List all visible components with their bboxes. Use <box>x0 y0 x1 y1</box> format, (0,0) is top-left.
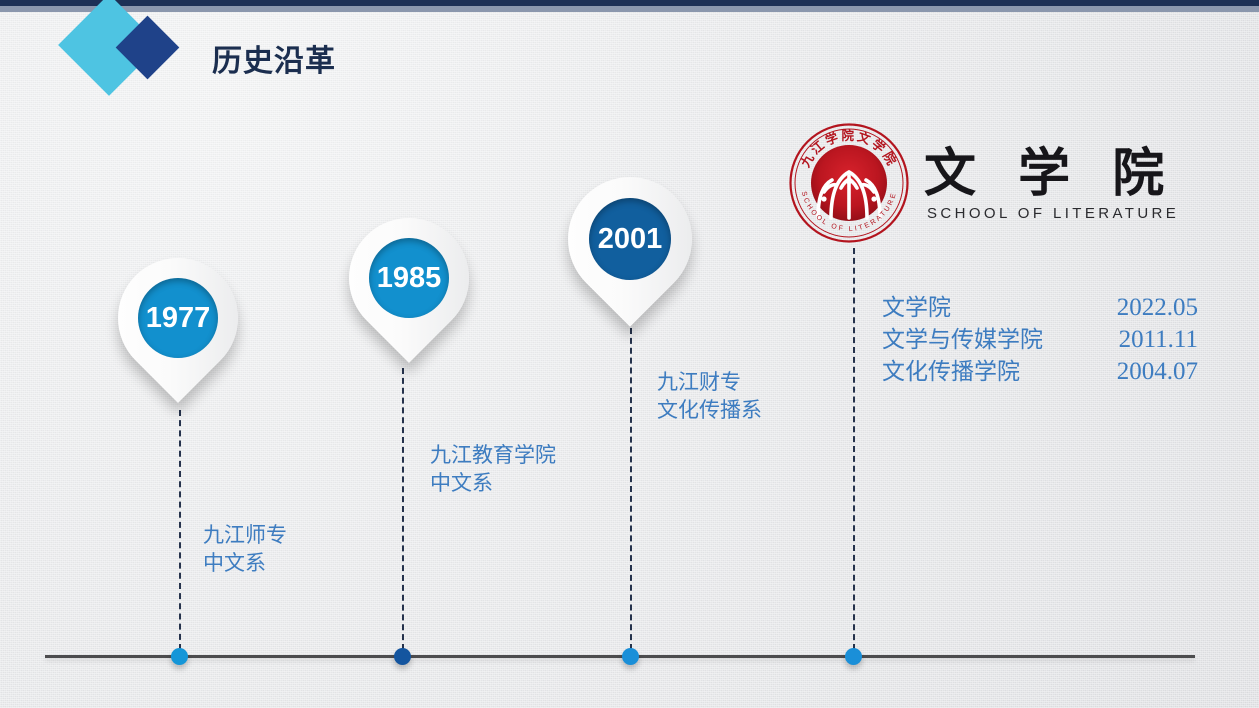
pin-label-2001: 2001 <box>589 198 671 280</box>
timeline-axis <box>45 655 1195 658</box>
logo-wordmark-en: SCHOOL OF LITERATURE <box>927 205 1179 222</box>
school-seal-icon: 九江学院文学院 SCHOOL OF LITERATURE <box>788 122 910 244</box>
pin-body: 2001 <box>542 151 717 326</box>
top-accent-bar-secondary <box>0 6 1259 12</box>
timeline-dot-2001 <box>622 648 639 665</box>
history-date: 2011.11 <box>1074 324 1198 355</box>
connector-line-2004 <box>853 248 855 650</box>
history-row: 文学与传媒学院 2011.11 <box>882 324 1198 356</box>
history-row: 文学院 2022.05 <box>882 292 1198 324</box>
logo-wordmark: 文 学 院 SCHOOL OF LITERATURE <box>924 145 1179 222</box>
caption-1985: 九江教育学院 中文系 <box>430 441 556 497</box>
history-name: 文化传播学院 <box>882 357 1074 388</box>
history-list: 文学院 2022.05 文学与传媒学院 2011.11 文化传播学院 2004.… <box>882 292 1198 388</box>
page-title: 历史沿革 <box>212 36 336 80</box>
caption-2001: 九江财专 文化传播系 <box>657 368 762 424</box>
timeline-pin-1985[interactable]: 1985 <box>349 218 469 338</box>
timeline-dot-1985 <box>394 648 411 665</box>
slide-canvas: 历史沿革 1977 1985 2001 九江师专 中文系 九江教育学院 中文系 … <box>0 0 1259 708</box>
pin-body: 1985 <box>324 193 494 363</box>
history-date: 2004.07 <box>1074 356 1198 387</box>
connector-line-1977 <box>179 410 181 650</box>
history-date: 2022.05 <box>1074 292 1198 323</box>
pin-label-1977: 1977 <box>138 278 218 358</box>
timeline-dot-2004 <box>845 648 862 665</box>
history-name: 文学与传媒学院 <box>882 325 1074 356</box>
timeline-dot-1977 <box>171 648 188 665</box>
connector-line-2001 <box>630 328 632 650</box>
caption-1977: 九江师专 中文系 <box>203 521 287 577</box>
pin-body: 1977 <box>93 233 263 403</box>
connector-line-1985 <box>402 368 404 650</box>
pin-label-1985: 1985 <box>369 238 449 318</box>
history-row: 文化传播学院 2004.07 <box>882 356 1198 388</box>
history-name: 文学院 <box>882 293 1074 324</box>
school-logo: 九江学院文学院 SCHOOL OF LITERATURE 文 学 院 SCHOO… <box>788 122 1179 244</box>
timeline-pin-1977[interactable]: 1977 <box>118 258 238 378</box>
timeline-pin-2001[interactable]: 2001 <box>568 177 692 301</box>
logo-wordmark-cn: 文 学 院 <box>924 145 1179 203</box>
